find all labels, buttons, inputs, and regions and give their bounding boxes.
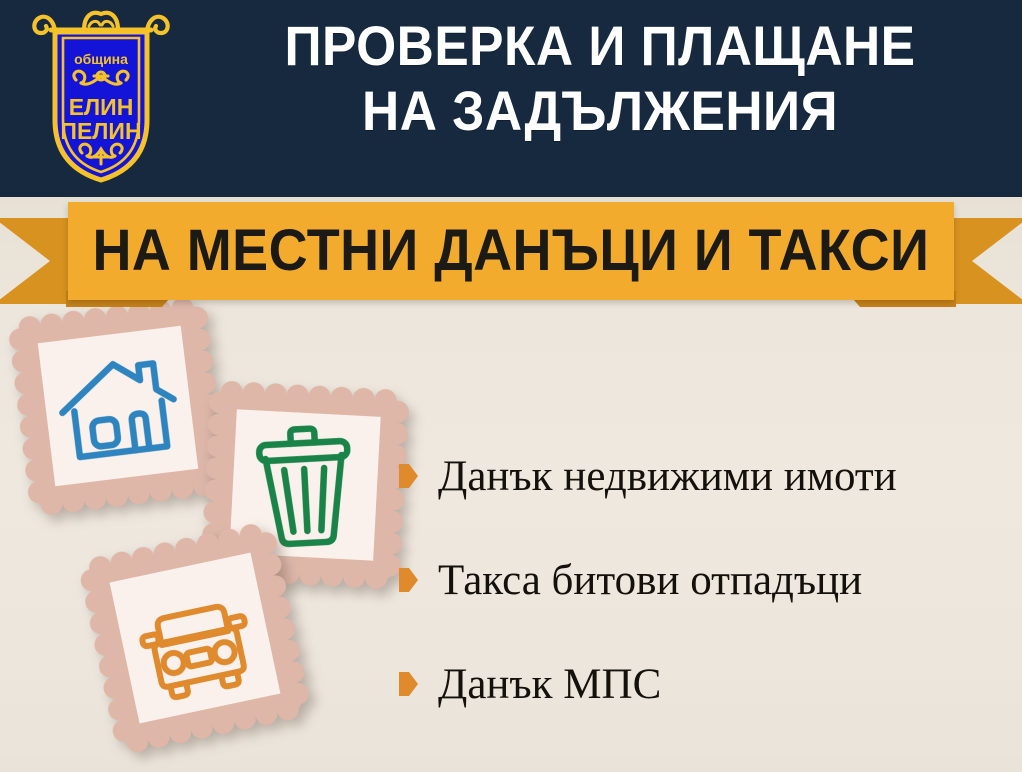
list-item[interactable]: Такса битови отпадъци [399, 528, 1011, 632]
arrow-bullet-icon [399, 672, 418, 696]
coat-of-arms-emblem: община ЕЛИН ПЕЛИН [26, 8, 176, 186]
emblem-main-text-1: ЕЛИН [69, 94, 134, 120]
list-item[interactable]: Данък недвижими имоти [399, 424, 1011, 528]
emblem-main-text-2: ПЕЛИН [60, 118, 141, 144]
list-item-label: Данък МПС [438, 663, 661, 706]
poster-canvas: ПРОВЕРКА И ПЛАЩАНЕ НА ЗАДЪЛЖЕНИЯ община [0, 0, 1022, 772]
tax-type-list: Данък недвижими имоти Такса битови отпад… [399, 424, 1011, 736]
arrow-bullet-icon [399, 568, 418, 592]
ribbon-band: НА МЕСТНИ ДАНЪЦИ И ТАКСИ [68, 202, 954, 300]
ribbon-banner: НА МЕСТНИ ДАНЪЦИ И ТАКСИ [0, 196, 1022, 314]
arrow-bullet-icon [399, 464, 418, 488]
stamp-card-group [0, 300, 420, 770]
ribbon-text: НА МЕСТНИ ДАНЪЦИ И ТАКСИ [93, 222, 930, 280]
stamp-card-vehicle [76, 519, 313, 756]
list-item-label: Такса битови отпадъци [438, 559, 862, 602]
list-item[interactable]: Данък МПС [399, 632, 1011, 736]
stamp-card-property [7, 295, 230, 518]
page-title-line-2: НА ЗАДЪЛЖЕНИЯ [219, 79, 981, 144]
page-title-line-1: ПРОВЕРКА И ПЛАЩАНЕ [219, 14, 981, 79]
emblem-small-text: община [74, 51, 128, 67]
list-item-label: Данък недвижими имоти [438, 455, 897, 498]
page-title: ПРОВЕРКА И ПЛАЩАНЕ НА ЗАДЪЛЖЕНИЯ [219, 14, 981, 144]
